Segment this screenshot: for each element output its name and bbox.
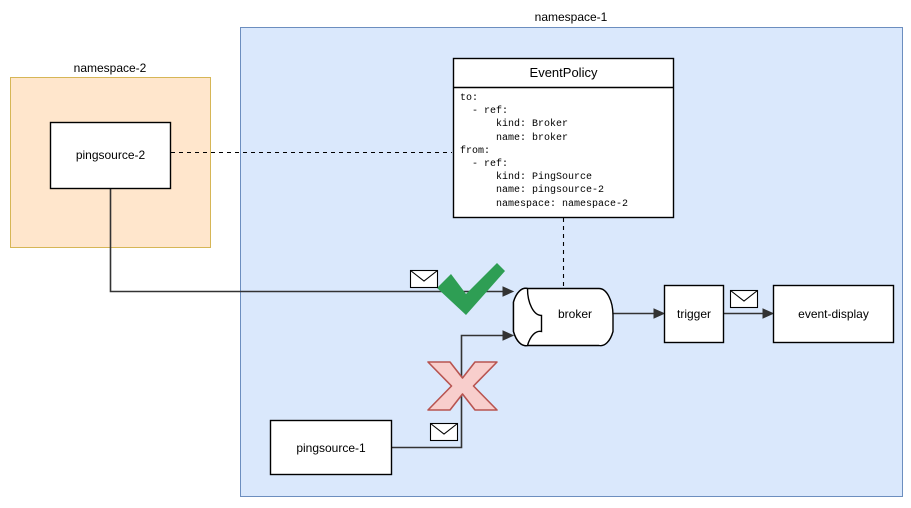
node-pingsource-2-label: pingsource-2 bbox=[50, 148, 171, 162]
envelope-icon-pingsource-1-to-broker bbox=[431, 424, 458, 441]
event-policy-yaml: to: - ref: kind: Broker name: broker fro… bbox=[460, 92, 672, 211]
event-policy-title: EventPolicy bbox=[453, 65, 674, 81]
namespace-1-label: namespace-1 bbox=[471, 10, 671, 24]
node-pingsource-1-label: pingsource-1 bbox=[270, 441, 392, 455]
namespace-2-label: namespace-2 bbox=[10, 61, 210, 75]
envelope-icon-pingsource-2-to-broker bbox=[411, 271, 438, 288]
node-trigger-label: trigger bbox=[664, 307, 724, 321]
envelope-icon-trigger-to-event-display bbox=[731, 291, 758, 308]
node-broker-label: broker bbox=[540, 307, 610, 321]
node-event-display-label: event-display bbox=[773, 307, 894, 321]
